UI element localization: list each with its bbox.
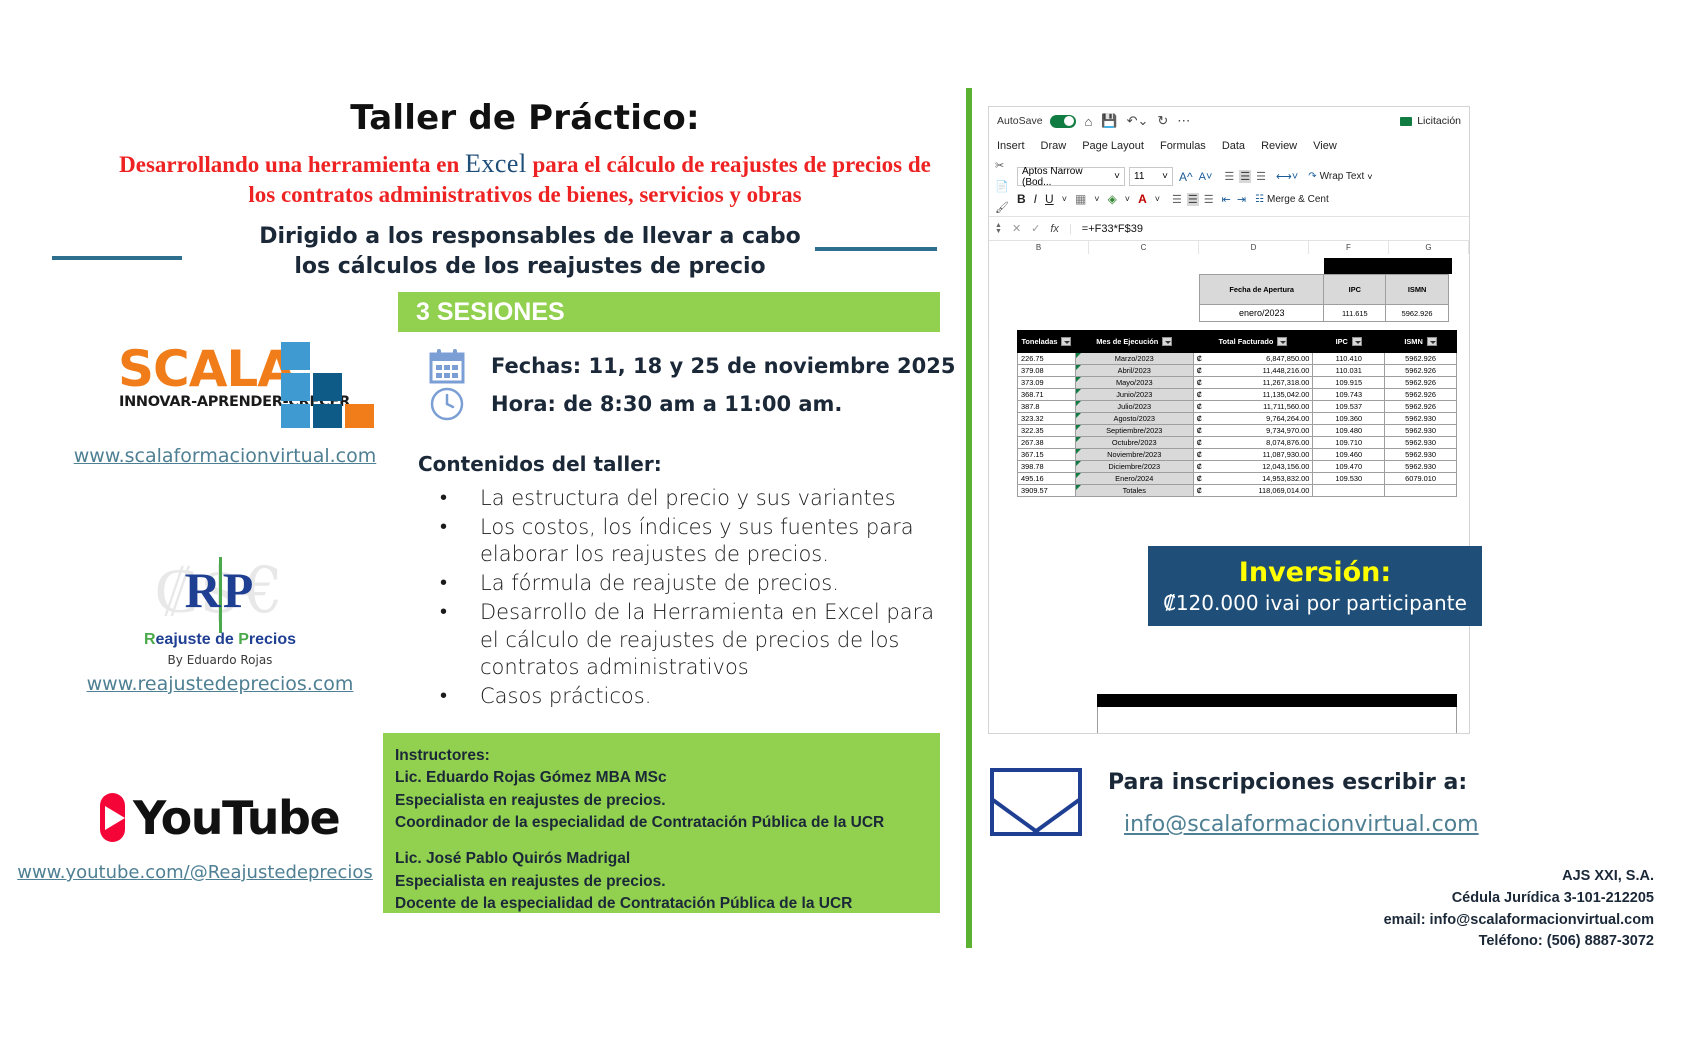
align-right-icon[interactable]: ☰ — [1204, 193, 1214, 206]
apertura-header-fecha: Fecha de Apertura — [1200, 275, 1324, 305]
font-name-value: Aptos Narrow (Bod... — [1022, 166, 1114, 188]
align-left-icon[interactable]: ☰ — [1172, 193, 1182, 206]
cell-toneladas: 323.32 — [1018, 413, 1076, 425]
scala-square-icon — [313, 404, 342, 428]
cell-ismn: 5962.930 — [1385, 461, 1457, 473]
table-row[interactable]: 387.8Julio/2023₡11,711,560.00109.5375962… — [1018, 401, 1457, 413]
wrap-text-button[interactable]: Wrap Text — [1320, 171, 1365, 182]
redo-icon[interactable]: ↻ — [1157, 113, 1168, 129]
table-row-totals: 3909.57Totales₡118,069,014.00 — [1018, 485, 1457, 497]
wrap-text-icon: ↷ — [1308, 171, 1316, 182]
reajuste-precios-logo: ₡$€ RP Reajuste de Precios By Eduardo Ro… — [120, 555, 320, 665]
rp-sub-mid: eajuste de — [156, 631, 239, 648]
cell-facturado: ₡11,711,560.00 — [1193, 401, 1313, 413]
merge-center-button[interactable]: Merge & Cent — [1267, 194, 1329, 205]
title-block: Taller de Práctico: Desarrollando una he… — [110, 98, 940, 210]
format-painter-icon[interactable]: 🖌 — [995, 199, 1013, 217]
cell-mes: Septiembre/2023 — [1075, 425, 1193, 437]
instructor-1-name: Lic. Eduardo Rojas Gómez MBA MSc — [395, 767, 940, 789]
col-toneladas: Toneladas — [1018, 331, 1076, 353]
chevron-down-icon: ˅ — [1114, 171, 1120, 182]
youtube-play-icon — [100, 793, 125, 842]
cell-toneladas: 495.16 — [1018, 473, 1076, 485]
tab-review[interactable]: Review — [1261, 140, 1297, 152]
cell-mes: Octubre/2023 — [1075, 437, 1193, 449]
cell-ipc: 109.470 — [1313, 461, 1385, 473]
fill-color-icon[interactable]: ◈ — [1108, 192, 1117, 206]
file-name-label: Licitación — [1400, 115, 1461, 127]
chevron-down-icon[interactable]: ˅ — [1155, 194, 1160, 204]
scala-square-icon — [281, 342, 310, 370]
instructor-2-role-2: Docente de la especialidad de Contrataci… — [395, 893, 940, 915]
chevron-down-icon[interactable]: ˅ — [1094, 194, 1099, 204]
cell-ismn: 5962.930 — [1385, 413, 1457, 425]
audience-line-2: los cálculos de los reajustes de precio — [190, 252, 870, 282]
scala-logo: SCALA INNOVAR-APRENDER-CRECER — [118, 340, 358, 416]
table-row[interactable]: 367.15Noviembre/2023₡11,087,930.00109.46… — [1018, 449, 1457, 461]
cell-mes: Junio/2023 — [1075, 389, 1193, 401]
cell-ipc: 109.537 — [1313, 401, 1385, 413]
align-center-icon[interactable]: ☰ — [1187, 193, 1199, 206]
chevron-down-icon: ˅ — [1162, 171, 1168, 182]
shrink-font-icon[interactable]: A˅ — [1199, 171, 1213, 183]
cell-ismn: 5962.926 — [1385, 389, 1457, 401]
list-item: La fórmula de reajuste de precios. — [430, 570, 940, 598]
instructor-2-name: Lic. José Pablo Quirós Madrigal — [395, 848, 940, 870]
cell-ipc: 109.360 — [1313, 413, 1385, 425]
cell-toneladas: 226.75 — [1018, 353, 1076, 365]
list-item: Los costos, los índices y sus fuentes pa… — [430, 514, 940, 569]
align-bottom-icon[interactable]: ☰ — [1256, 170, 1266, 183]
chevron-down-icon[interactable]: ˅ — [1367, 172, 1372, 182]
tab-page-layout[interactable]: Page Layout — [1082, 140, 1144, 152]
excel-wordmark: Excel — [465, 149, 527, 178]
cell-mes: Abril/2023 — [1075, 365, 1193, 377]
cell-toneladas: 379.08 — [1018, 365, 1076, 377]
cell-facturado: ₡11,087,930.00 — [1193, 449, 1313, 461]
borders-icon[interactable]: ▦ — [1075, 192, 1086, 206]
font-name-select[interactable]: Aptos Narrow (Bod...˅ — [1017, 167, 1125, 186]
cell-facturado: ₡6,847,850.00 — [1193, 353, 1313, 365]
table-row — [1098, 707, 1457, 735]
contents-title: Contenidos del taller: — [418, 452, 662, 476]
font-size-select[interactable]: 11˅ — [1129, 167, 1173, 186]
cell-facturado: ₡9,734,970.00 — [1193, 425, 1313, 437]
cell-facturado-total: ₡118,069,014.00 — [1193, 485, 1313, 497]
table-row[interactable]: 323.32Agosto/2023₡9,764,264.00109.360596… — [1018, 413, 1457, 425]
name-box-spinner-icon[interactable]: ▲▼ — [995, 223, 1002, 235]
tab-view[interactable]: View — [1313, 140, 1337, 152]
cell-ipc: 109.743 — [1313, 389, 1385, 401]
apertura-value-ipc: 111.615 — [1324, 305, 1386, 322]
more-icon[interactable]: ⋯ — [1177, 113, 1190, 129]
font-color-icon[interactable]: A — [1138, 192, 1147, 206]
col-facturado: Total Facturado — [1193, 331, 1313, 353]
scala-square-icon — [281, 373, 310, 401]
cell-ismn: 5962.926 — [1385, 365, 1457, 377]
cell-ipc: 109.530 — [1313, 473, 1385, 485]
company-cedula: Cédula Jurídica 3-101-212205 — [1384, 888, 1654, 910]
table-row[interactable]: 495.16Enero/2024₡14,953,832.00109.530607… — [1018, 473, 1457, 485]
cell-ismn: 5962.926 — [1385, 353, 1457, 365]
rp-sub-end: recios — [249, 631, 296, 648]
company-phone: Teléfono: (506) 8887-3072 — [1384, 931, 1654, 953]
apertura-value-ismn: 5962.926 — [1386, 305, 1449, 322]
rp-sub-p: P — [238, 631, 249, 648]
cell-mes: Agosto/2023 — [1075, 413, 1193, 425]
tab-draw[interactable]: Draw — [1041, 140, 1067, 152]
chevron-down-icon[interactable]: ˅ — [1125, 194, 1130, 204]
apertura-header-ismn: ISMN — [1386, 275, 1449, 305]
page-subtitle: Desarrollando una herramienta en Excel p… — [110, 147, 940, 210]
tab-insert[interactable]: Insert — [997, 140, 1025, 152]
file-name-text: Licitación — [1417, 115, 1461, 127]
orientation-icon[interactable]: ⟷˅ — [1276, 170, 1298, 183]
cell-toneladas: 367.15 — [1018, 449, 1076, 461]
page-title: Taller de Práctico: — [110, 98, 940, 138]
list-item: Desarrollo de la Herramienta en Excel pa… — [430, 599, 940, 682]
company-info: AJS XXI, S.A. Cédula Jurídica 3-101-2122… — [1384, 866, 1654, 953]
instructors-box: Instructores: Lic. Eduardo Rojas Gómez M… — [383, 733, 940, 913]
spacer — [395, 834, 940, 848]
dates-label: Fechas: 11, 18 y 25 de noviembre 2025 — [491, 354, 955, 378]
company-email: email: info@scalaformacionvirtual.com — [1384, 910, 1654, 932]
cell-ipc: 110.031 — [1313, 365, 1385, 377]
cell-toneladas: 368.71 — [1018, 389, 1076, 401]
envelope-icon — [990, 768, 1082, 836]
table-header-row: Toneladas Mes de Ejecución Total Factura… — [1018, 331, 1457, 353]
rp-sub-r: R — [144, 631, 156, 648]
scala-square-icon — [313, 373, 342, 401]
underline-button[interactable]: U — [1045, 192, 1054, 206]
table-row[interactable]: 322.35Septiembre/2023₡9,734,970.00109.48… — [1018, 425, 1457, 437]
save-icon[interactable]: 💾 — [1101, 113, 1117, 129]
investment-amount: ₡120.000 ivai por participante — [1163, 591, 1467, 615]
cell-toneladas: 373.09 — [1018, 377, 1076, 389]
decorative-rule-left — [52, 256, 182, 260]
apertura-header-ipc: IPC — [1324, 275, 1386, 305]
italic-button[interactable]: I — [1034, 192, 1037, 206]
cell-ismn: 5962.930 — [1385, 437, 1457, 449]
align-top-icon[interactable]: ☰ — [1224, 170, 1234, 183]
cell-mes: Diciembre/2023 — [1075, 461, 1193, 473]
autosave-toggle[interactable] — [1050, 115, 1076, 128]
sessions-banner-label: 3 SESIONES — [416, 298, 565, 327]
audience-line-1: Dirigido a los responsables de llevar a … — [190, 222, 870, 252]
cell-facturado: ₡8,074,876.00 — [1193, 437, 1313, 449]
rp-byline: By Eduardo Rojas — [120, 653, 320, 667]
tab-formulas[interactable]: Formulas — [1160, 140, 1206, 152]
autosave-label: AutoSave — [997, 115, 1043, 127]
formula-bar: ▲▼ ✕ ✓ fx | =+F33*F$39 — [989, 217, 1469, 241]
cell-ismn: 6079.010 — [1385, 473, 1457, 485]
audience-text: Dirigido a los responsables de llevar a … — [190, 222, 870, 281]
contents-list: La estructura del precio y sus variantes… — [430, 485, 940, 712]
excel-file-icon — [1400, 117, 1412, 126]
cell-facturado: ₡12,043,156.00 — [1193, 461, 1313, 473]
apertura-value-fecha: enero/2023 — [1200, 305, 1324, 322]
cell-mes: Enero/2024 — [1075, 473, 1193, 485]
col-ismn: ISMN — [1385, 331, 1457, 353]
secondary-data-table: Marzo/2023₡6,847,850.00-0.01080.0000Abri… — [1097, 694, 1457, 734]
cut-icon[interactable]: ✂ — [995, 157, 1013, 175]
increase-indent-icon[interactable]: ⇥ — [1237, 193, 1246, 206]
excel-toolbar: ✂ 📄 🖌 Aptos Narrow (Bod...˅ 11˅ A^ A˅ ☰ … — [989, 157, 1469, 217]
vertical-divider — [966, 88, 972, 948]
table-row[interactable]: 398.78Diciembre/2023₡12,043,156.00109.47… — [1018, 461, 1457, 473]
scala-wordmark: SCALA — [118, 340, 295, 398]
cell-mes: Marzo/2023 — [1075, 353, 1193, 365]
table-row[interactable]: 368.71Junio/2023₡11,135,042.00109.743596… — [1018, 389, 1457, 401]
apertura-table: Fecha de Apertura IPC ISMN enero/2023 11… — [1199, 274, 1449, 322]
time-row: Hora: de 8:30 am a 11:00 am. — [428, 385, 842, 423]
filter-icon[interactable] — [1277, 337, 1287, 346]
cell-facturado: ₡14,953,832.00 — [1193, 473, 1313, 485]
column-header-b[interactable]: B — [989, 241, 1089, 254]
instructors-heading: Instructores: — [395, 745, 940, 767]
cell-toneladas-total: 3909.57 — [1018, 485, 1076, 497]
cell-toneladas: 267.38 — [1018, 437, 1076, 449]
cell-toneladas: 387.8 — [1018, 401, 1076, 413]
cell-ismn: 5962.926 — [1385, 377, 1457, 389]
calendar-icon — [428, 348, 466, 384]
cell-ismn: 5962.926 — [1385, 401, 1457, 413]
reajuste-website-link[interactable]: www.reajustedeprecios.com — [30, 673, 410, 695]
clock-icon — [428, 385, 466, 423]
cancel-formula-icon[interactable]: ✕ — [1012, 222, 1021, 235]
filter-icon[interactable] — [1352, 337, 1362, 346]
table-row: Fecha de Apertura IPC ISMN — [1200, 275, 1449, 305]
font-size-value: 11 — [1134, 171, 1144, 182]
sessions-banner: 3 SESIONES — [398, 292, 940, 332]
scala-website-link[interactable]: www.scalaformacionvirtual.com — [35, 445, 415, 467]
table-row[interactable]: 373.09Mayo/2023₡11,267,318.00109.9155962… — [1018, 377, 1457, 389]
cell-mes: Julio/2023 — [1075, 401, 1193, 413]
home-icon[interactable]: ⌂ — [1085, 114, 1093, 129]
fx-icon[interactable]: fx — [1050, 223, 1059, 235]
excel-screenshot: AutoSave ⌂ 💾 ↶⌄ ↻ ⋯ Licitación Insert Dr… — [988, 106, 1470, 734]
cell-toneladas: 322.35 — [1018, 425, 1076, 437]
cell-ipc: 109.460 — [1313, 449, 1385, 461]
merge-cells-icon: ☷ — [1255, 194, 1264, 205]
copy-icon[interactable]: 📄 — [995, 178, 1013, 196]
cell-toneladas: 398.78 — [1018, 461, 1076, 473]
table-row: enero/2023 111.615 5962.926 — [1200, 305, 1449, 322]
instructor-2-role-1: Especialista en reajustes de precios. — [395, 871, 940, 893]
list-item: La estructura del precio y sus variantes — [430, 485, 940, 513]
cell-ismn: 5962.930 — [1385, 425, 1457, 437]
scala-square-icon — [345, 404, 374, 428]
excel-column-headers: B C D F G — [989, 241, 1469, 254]
cell-facturado: ₡9,764,264.00 — [1193, 413, 1313, 425]
bold-button[interactable]: B — [1017, 192, 1026, 206]
cell-facturado: ₡11,135,042.00 — [1193, 389, 1313, 401]
contact-heading: Para inscripciones escribir a: — [1108, 770, 1467, 795]
investment-callout: Inversión: ₡120.000 ivai por participant… — [1148, 546, 1482, 626]
tab-data[interactable]: Data — [1222, 140, 1245, 152]
main-data-table: Toneladas Mes de Ejecución Total Factura… — [1017, 330, 1457, 497]
cell-facturado: ₡11,267,318.00 — [1193, 377, 1313, 389]
excel-ribbon-tabs: Insert Draw Page Layout Formulas Data Re… — [989, 135, 1469, 157]
excel-sheet-area[interactable]: Fecha de Apertura IPC ISMN enero/2023 11… — [989, 254, 1469, 734]
time-label: Hora: de 8:30 am a 11:00 am. — [491, 392, 842, 416]
excel-title-bar: AutoSave ⌂ 💾 ↶⌄ ↻ ⋯ Licitación — [989, 107, 1469, 135]
youtube-logo: YouTube — [100, 790, 300, 845]
filter-icon[interactable] — [1061, 337, 1071, 346]
col-mes: Mes de Ejecución — [1075, 331, 1193, 353]
cell-facturado: ₡11,448,216.00 — [1193, 365, 1313, 377]
table-row[interactable]: 226.75Marzo/2023₡6,847,850.00110.4105962… — [1018, 353, 1457, 365]
cell-totals-label: Totales — [1075, 485, 1193, 497]
table-row[interactable]: 379.08Abril/2023₡11,448,216.00110.031596… — [1018, 365, 1457, 377]
subtitle-part-1: Desarrollando una herramienta en — [119, 152, 465, 177]
confirm-formula-icon[interactable]: ✓ — [1031, 222, 1040, 235]
list-item: Casos prácticos. — [430, 683, 940, 711]
grow-font-icon[interactable]: A^ — [1179, 170, 1193, 184]
undo-icon[interactable]: ↶⌄ — [1127, 113, 1149, 129]
table-row[interactable]: 267.38Octubre/2023₡8,074,876.00109.71059… — [1018, 437, 1457, 449]
cell-ipc: 109.915 — [1313, 377, 1385, 389]
column-header-f[interactable]: F — [1309, 241, 1389, 254]
column-header-g[interactable]: G — [1389, 241, 1469, 254]
filter-icon[interactable] — [1427, 337, 1437, 346]
rp-monogram: RP — [120, 561, 320, 619]
left-content-panel: Taller de Práctico: Desarrollando una he… — [0, 0, 1040, 1042]
cell-ismn: 5962.930 — [1385, 449, 1457, 461]
investment-title: Inversión: — [1239, 557, 1391, 588]
column-header-c[interactable]: C — [1089, 241, 1199, 254]
youtube-channel-link[interactable]: www.youtube.com/@Reajustedeprecios — [5, 862, 385, 883]
instructor-1-role-2: Coordinador de la especialidad de Contra… — [395, 812, 940, 834]
table-row — [1098, 695, 1457, 707]
column-header-d[interactable]: D — [1199, 241, 1309, 254]
cell-ipc: 110.410 — [1313, 353, 1385, 365]
black-header-strip — [1324, 258, 1452, 274]
instructor-1-role-1: Especialista en reajustes de precios. — [395, 790, 940, 812]
scala-square-icon — [281, 404, 310, 428]
cell-ipc: 109.480 — [1313, 425, 1385, 437]
cell-ipc: 109.710 — [1313, 437, 1385, 449]
company-name: AJS XXI, S.A. — [1384, 866, 1654, 888]
col-ipc: IPC — [1313, 331, 1385, 353]
chevron-down-icon[interactable]: ˅ — [1062, 194, 1067, 204]
formula-input[interactable]: =+F33*F$39 — [1082, 223, 1143, 235]
youtube-wordmark: YouTube — [133, 791, 339, 845]
decrease-indent-icon[interactable]: ⇤ — [1222, 193, 1231, 206]
cell-mes: Mayo/2023 — [1075, 377, 1193, 389]
align-middle-icon[interactable]: ☰ — [1239, 170, 1251, 183]
cell-mes: Noviembre/2023 — [1075, 449, 1193, 461]
rp-subtitle: Reajuste de Precios — [120, 631, 320, 649]
filter-icon[interactable] — [1162, 337, 1172, 346]
dates-row: Fechas: 11, 18 y 25 de noviembre 2025 — [428, 348, 955, 384]
contact-email-link[interactable]: info@scalaformacionvirtual.com — [1124, 812, 1479, 837]
